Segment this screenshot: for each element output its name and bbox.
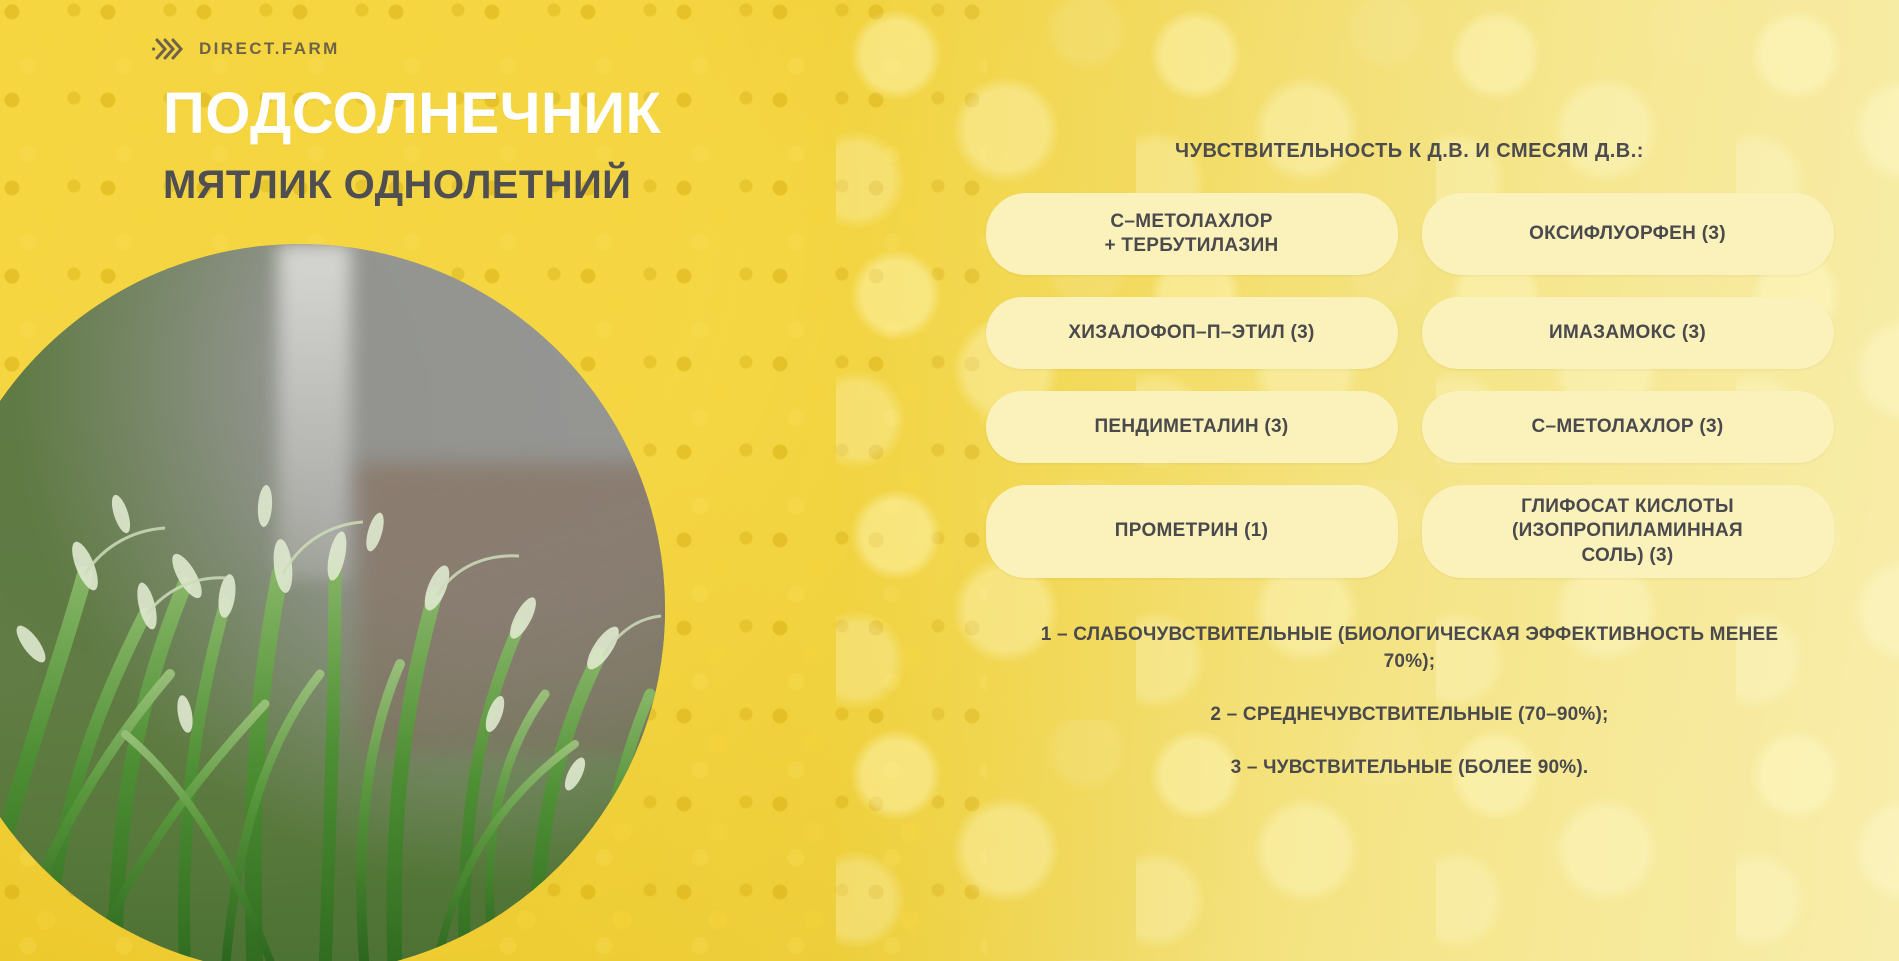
- page-title: ПОДСОЛНЕЧНИК: [163, 84, 661, 144]
- pill-item[interactable]: С–МЕТОЛАХЛОР+ ТЕРБУТИЛАЗИН: [986, 193, 1398, 275]
- pill-item[interactable]: С–МЕТОЛАХЛОР (3): [1422, 391, 1834, 463]
- pill-item[interactable]: ХИЗАЛОФОП–П–ЭТИЛ (3): [986, 297, 1398, 369]
- chevron-stripes-icon: [152, 36, 186, 62]
- infographic-canvas: DIRECT.FARM ПОДСОЛНЕЧНИК МЯТЛИК ОДНОЛЕТН…: [0, 0, 1899, 961]
- active-ingredient-grid: С–МЕТОЛАХЛОР+ ТЕРБУТИЛАЗИН ОКСИФЛУОРФЕН …: [986, 193, 1834, 578]
- sensitivity-panel: ЧУВСТВИТЕЛЬНОСТЬ К Д.В. И СМЕСЯМ Д.В.: С…: [920, 0, 1899, 961]
- brand-logo[interactable]: DIRECT.FARM: [152, 36, 340, 62]
- brand-name: DIRECT.FARM: [199, 39, 340, 59]
- legend-line: 1 – СЛАБОЧУВСТВИТЕЛЬНЫЕ (БИОЛОГИЧЕСКАЯ Э…: [1030, 622, 1790, 676]
- page-subtitle: МЯТЛИК ОДНОЛЕТНИЙ: [163, 163, 631, 207]
- pill-item[interactable]: ОКСИФЛУОРФЕН (3): [1422, 193, 1834, 275]
- pill-item[interactable]: ПРОМЕТРИН (1): [986, 485, 1398, 578]
- legend-line: 2 – СРЕДНЕЧУВСТВИТЕЛЬНЫЕ (70–90%);: [1030, 702, 1790, 729]
- panel-heading: ЧУВСТВИТЕЛЬНОСТЬ К Д.В. И СМЕСЯМ Д.В.:: [920, 140, 1899, 163]
- pill-item[interactable]: ИМАЗАМОКС (3): [1422, 297, 1834, 369]
- annual-bluegrass-photo: [0, 244, 665, 961]
- grass-illustration: [0, 244, 665, 961]
- pill-item[interactable]: ПЕНДИМЕТАЛИН (3): [986, 391, 1398, 463]
- pill-item[interactable]: ГЛИФОСАТ КИСЛОТЫ(ИЗОПРОПИЛАМИННАЯСОЛЬ) (…: [1422, 485, 1834, 578]
- legend-line: 3 – ЧУВСТВИТЕЛЬНЫЕ (БОЛЕЕ 90%).: [1030, 755, 1790, 782]
- sensitivity-legend: 1 – СЛАБОЧУВСТВИТЕЛЬНЫЕ (БИОЛОГИЧЕСКАЯ Э…: [1030, 622, 1790, 782]
